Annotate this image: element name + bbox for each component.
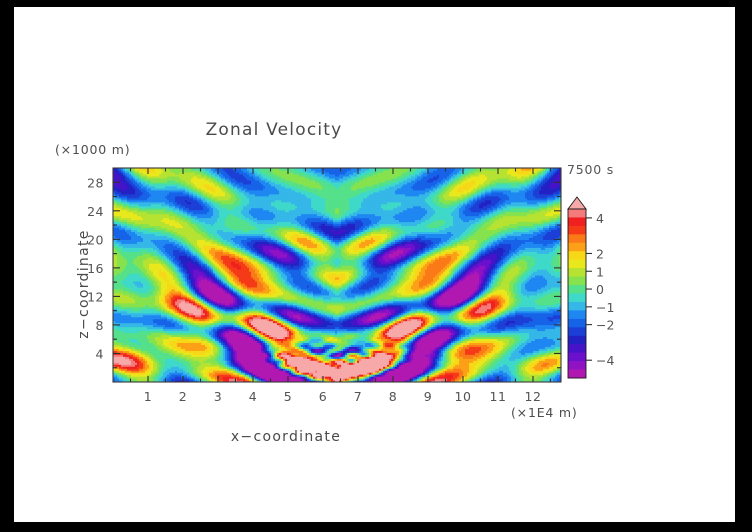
x-axis-unit-label: (×1E4 m) bbox=[511, 405, 578, 420]
plot-figure: Zonal Velocity (×1000 m) 7500 s 4210−1−2… bbox=[14, 7, 735, 522]
x-tick-label: 7 bbox=[354, 389, 362, 404]
y-axis-label: z−coordinate bbox=[76, 229, 92, 338]
y-tick-label: 4 bbox=[96, 346, 104, 361]
colorbar-band bbox=[568, 310, 586, 319]
x-tick-label: 12 bbox=[525, 389, 542, 404]
colorbar-band bbox=[568, 302, 586, 311]
x-tick-label: 9 bbox=[424, 389, 432, 404]
colorbar-band bbox=[568, 361, 586, 370]
x-tick-label: 8 bbox=[389, 389, 397, 404]
y-tick-label: 8 bbox=[96, 318, 104, 333]
figure-canvas: Zonal Velocity (×1000 m) 7500 s 4210−1−2… bbox=[14, 7, 735, 522]
x-axis-label: x−coordinate bbox=[231, 429, 341, 445]
plot-svg: Zonal Velocity (×1000 m) 7500 s 4210−1−2… bbox=[14, 7, 735, 522]
colorbar-tick-label: 2 bbox=[596, 246, 604, 261]
colorbar-band bbox=[568, 260, 586, 269]
colorbar-band bbox=[568, 251, 586, 260]
colorbar-band bbox=[568, 370, 586, 379]
colorbar-tick-label: 0 bbox=[596, 282, 604, 297]
x-tick-label: 1 bbox=[144, 389, 152, 404]
colorbar-band bbox=[568, 353, 586, 362]
colorbar-band bbox=[568, 243, 586, 252]
page-title: Zonal Velocity bbox=[206, 120, 343, 140]
colorbar-tick-label: −2 bbox=[596, 318, 614, 333]
colorbar-band bbox=[568, 234, 586, 243]
x-tick-label: 3 bbox=[214, 389, 222, 404]
colorbar-tick-label: −1 bbox=[596, 300, 614, 315]
time-annotation: 7500 s bbox=[567, 162, 614, 177]
colorbar-band bbox=[568, 327, 586, 336]
colorbar-band bbox=[568, 294, 586, 303]
y-tick-label: 24 bbox=[87, 204, 104, 219]
colorbar-band bbox=[568, 277, 586, 286]
colorbar-band bbox=[568, 336, 586, 345]
x-tick-label: 5 bbox=[284, 389, 292, 404]
colorbar-band bbox=[568, 344, 586, 353]
colorbar-band bbox=[568, 217, 586, 226]
colorbar-tick-label: 1 bbox=[596, 264, 604, 279]
y-tick-label: 28 bbox=[87, 175, 104, 190]
x-tick-label: 6 bbox=[319, 389, 327, 404]
contour-field bbox=[113, 168, 562, 383]
colorbar-band bbox=[568, 268, 586, 277]
colorbar-band bbox=[568, 285, 586, 294]
colorbar-band bbox=[568, 226, 586, 235]
x-tick-label: 4 bbox=[249, 389, 257, 404]
colorbar-band bbox=[568, 319, 586, 328]
colorbar-band bbox=[568, 209, 586, 218]
contour-cells bbox=[113, 168, 562, 383]
colorbar-tick-label: −4 bbox=[596, 353, 614, 368]
x-tick-label: 2 bbox=[179, 389, 187, 404]
y-axis-unit-label: (×1000 m) bbox=[55, 142, 130, 157]
colorbar-tick-label: 4 bbox=[596, 211, 604, 226]
x-tick-label: 11 bbox=[490, 389, 507, 404]
x-tick-label: 10 bbox=[455, 389, 472, 404]
